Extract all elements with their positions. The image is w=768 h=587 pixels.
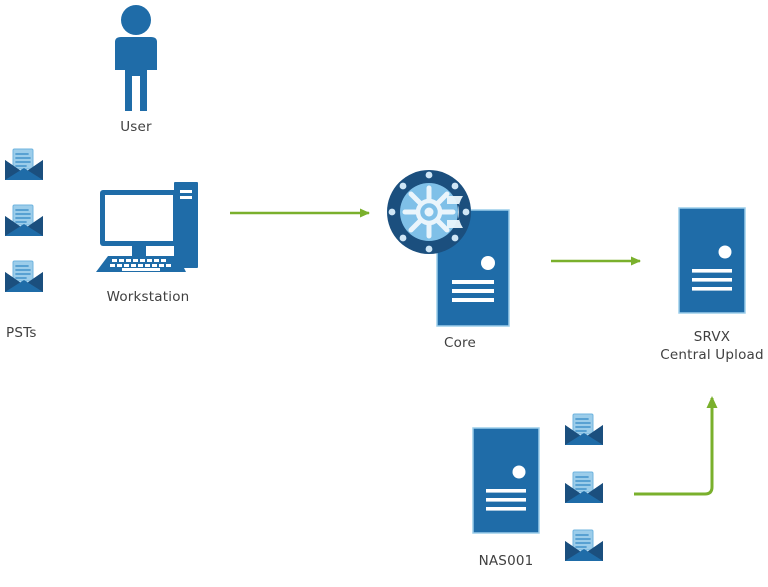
label-srvx: SRVX Central Upload bbox=[645, 328, 768, 364]
envelope-stack-icon bbox=[2, 146, 46, 316]
envelope-icon bbox=[5, 261, 43, 292]
envelope-icon bbox=[5, 205, 43, 236]
node-core[interactable] bbox=[385, 168, 517, 328]
server-icon bbox=[678, 207, 746, 314]
diagram-canvas: User bbox=[0, 0, 768, 587]
vault-door-icon bbox=[387, 170, 471, 254]
label-core: Core bbox=[405, 334, 515, 352]
envelope-icon bbox=[565, 414, 603, 445]
envelope-icon bbox=[565, 530, 603, 561]
server-icon bbox=[472, 427, 540, 534]
envelope-icon bbox=[565, 472, 603, 503]
node-workstation[interactable] bbox=[92, 180, 204, 276]
envelope-stack-icon bbox=[562, 411, 606, 587]
node-srvx[interactable] bbox=[678, 207, 746, 314]
label-workstation: Workstation bbox=[82, 288, 214, 306]
node-psts[interactable] bbox=[2, 146, 46, 316]
vault-server-icon bbox=[385, 168, 517, 328]
label-nas001: NAS001 bbox=[440, 552, 572, 570]
node-user[interactable] bbox=[103, 4, 169, 114]
node-nas001[interactable] bbox=[472, 427, 540, 534]
envelope-icon bbox=[5, 149, 43, 180]
node-nas-mails[interactable] bbox=[562, 411, 606, 587]
label-psts: PSTs bbox=[6, 324, 86, 342]
arrow-nas001-to-srvx bbox=[634, 398, 712, 494]
desktop-computer-icon bbox=[92, 180, 204, 276]
label-user: User bbox=[100, 118, 172, 136]
person-icon bbox=[103, 4, 169, 114]
